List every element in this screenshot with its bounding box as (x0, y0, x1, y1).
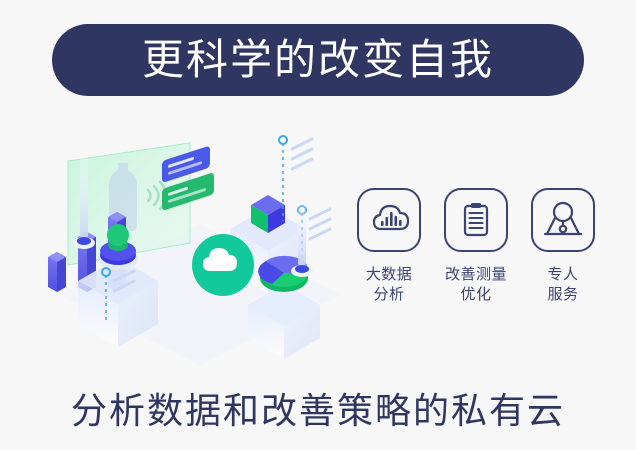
title-banner: 更科学的改变自我 (52, 24, 584, 96)
feature-label-big-data: 大数据 分析 (366, 265, 413, 306)
cloud-bar-chart-icon-frame (357, 188, 421, 252)
isometric-illustration (40, 125, 350, 365)
page-title: 更科学的改变自我 (142, 39, 494, 81)
clipboard-icon (456, 200, 496, 240)
service-person-icon (541, 198, 585, 242)
service-person-icon-frame (531, 188, 595, 252)
feature-item-service[interactable]: 专人 服务 (526, 188, 600, 306)
page-tagline: 分析数据和改善策略的私有云 (0, 382, 636, 434)
promo-banner-page: 更科学的改变自我 (0, 0, 636, 450)
cloud-badge (192, 234, 254, 296)
clipboard-icon-frame (444, 188, 508, 252)
feature-label-service: 专人 服务 (547, 265, 578, 306)
feature-label-measurement: 改善测量 优化 (445, 265, 507, 306)
feature-item-measurement[interactable]: 改善测量 优化 (439, 188, 513, 306)
feature-item-big-data[interactable]: 大数据 分析 (352, 188, 426, 306)
cloud-bar-chart-icon (369, 200, 409, 240)
feature-list: 大数据 分析 改善测量 优化 (352, 188, 600, 328)
